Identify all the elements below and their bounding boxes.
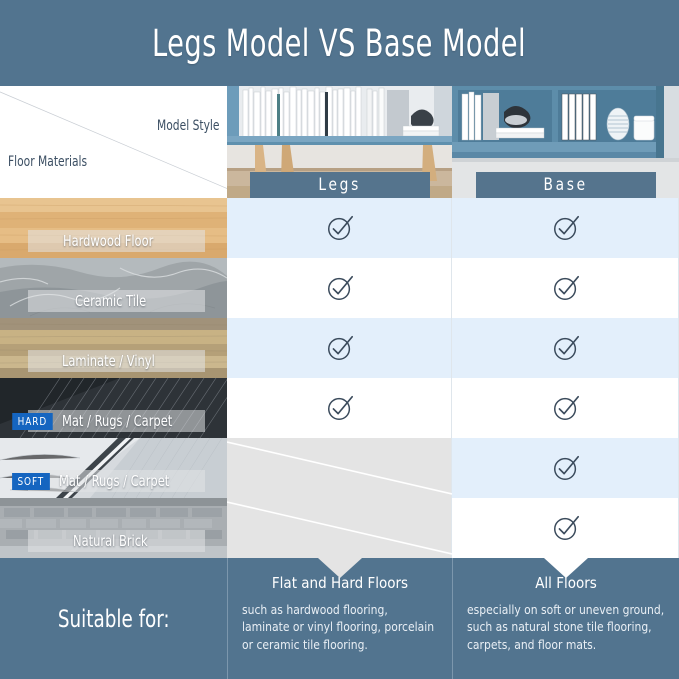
suitable-for-label: Suitable for: bbox=[58, 605, 170, 633]
page-title: Legs Model VS Base Model bbox=[153, 22, 527, 65]
material-label-bar: Laminate / Vinyl bbox=[28, 350, 205, 372]
diagonal-slash-icon bbox=[227, 498, 452, 558]
material-label-bar: SOFT Mat / Rugs / Carpet bbox=[28, 470, 205, 492]
material-photo-natural-brick: Natural Brick bbox=[0, 498, 227, 558]
footer-base-summary: All Floors especially on soft or uneven … bbox=[452, 558, 679, 679]
material-label: Hardwood Floor bbox=[63, 232, 153, 250]
material-label: Laminate / Vinyl bbox=[62, 352, 155, 370]
check-circle-icon bbox=[551, 213, 581, 243]
table-corner-header: Model Style Floor Materials bbox=[0, 86, 227, 198]
check-circle-icon bbox=[325, 273, 355, 303]
base-column-label: Base bbox=[543, 175, 587, 195]
hardness-badge: SOFT bbox=[12, 473, 49, 490]
cell-legs-soft-mat-rugs-carpet bbox=[227, 438, 452, 498]
base-summary-body: especially on soft or uneven ground, suc… bbox=[467, 602, 665, 654]
footer-summary: Suitable for: Flat and Hard Floors such … bbox=[0, 558, 679, 679]
check-circle-icon bbox=[551, 453, 581, 483]
cell-legs-ceramic-tile bbox=[227, 258, 452, 318]
material-photo-hard-mat-rugs-carpet: HARD Mat / Rugs / Carpet bbox=[0, 378, 227, 438]
base-notch-icon bbox=[544, 558, 588, 578]
cell-base-ceramic-tile bbox=[452, 258, 679, 318]
check-circle-icon bbox=[325, 333, 355, 363]
check-circle-icon bbox=[551, 273, 581, 303]
material-label: Ceramic Tile bbox=[75, 292, 146, 310]
material-photo-ceramic-tile: Ceramic Tile bbox=[0, 258, 227, 318]
hardness-badge: HARD bbox=[12, 413, 52, 430]
check-circle-icon bbox=[551, 333, 581, 363]
legs-column-label: Legs bbox=[318, 175, 361, 195]
material-label: Mat / Rugs / Carpet bbox=[59, 472, 169, 490]
cell-legs-laminate-vinyl bbox=[227, 318, 452, 378]
cell-base-hardwood-floor bbox=[452, 198, 679, 258]
cell-base-natural-brick bbox=[452, 498, 679, 558]
check-circle-icon bbox=[325, 393, 355, 423]
cell-legs-hard-mat-rugs-carpet bbox=[227, 378, 452, 438]
diagonal-slash-icon bbox=[227, 438, 452, 498]
material-label: Natural Brick bbox=[73, 532, 148, 550]
material-photo-soft-mat-rugs-carpet: SOFT Mat / Rugs / Carpet bbox=[0, 438, 227, 498]
model-style-label: Model Style bbox=[157, 118, 219, 134]
legs-notch-icon bbox=[318, 558, 362, 578]
material-photo-laminate-vinyl: Laminate / Vinyl bbox=[0, 318, 227, 378]
check-circle-icon bbox=[551, 393, 581, 423]
legs-summary-body: such as hardwood flooring, laminate or v… bbox=[242, 602, 438, 654]
check-circle-icon bbox=[325, 213, 355, 243]
cell-legs-natural-brick bbox=[227, 498, 452, 558]
base-header-photo: Base bbox=[452, 86, 679, 198]
base-column-header: Base bbox=[476, 172, 656, 198]
title-bar: Legs Model VS Base Model bbox=[0, 0, 679, 86]
cell-legs-hardwood-floor bbox=[227, 198, 452, 258]
check-circle-icon bbox=[551, 513, 581, 543]
legs-header-photo: Legs bbox=[227, 86, 452, 198]
material-label-bar: HARD Mat / Rugs / Carpet bbox=[28, 410, 205, 432]
legs-column-header: Legs bbox=[250, 172, 430, 198]
floor-materials-label: Floor Materials bbox=[8, 154, 87, 170]
suitable-for-cell: Suitable for: bbox=[0, 558, 227, 679]
footer-legs-summary: Flat and Hard Floors such as hardwood fl… bbox=[227, 558, 452, 679]
material-label-bar: Hardwood Floor bbox=[28, 230, 205, 252]
cell-base-hard-mat-rugs-carpet bbox=[452, 378, 679, 438]
material-label-bar: Ceramic Tile bbox=[28, 290, 205, 312]
cell-base-laminate-vinyl bbox=[452, 318, 679, 378]
material-label: Mat / Rugs / Carpet bbox=[62, 412, 172, 430]
comparison-infographic: Legs Model VS Base Model Model Style Flo… bbox=[0, 0, 679, 679]
cell-base-soft-mat-rugs-carpet bbox=[452, 438, 679, 498]
comparison-table: Model Style Floor Materials bbox=[0, 86, 679, 558]
material-photo-hardwood-floor: Hardwood Floor bbox=[0, 198, 227, 258]
corner-diagonal-divider bbox=[0, 86, 227, 198]
material-label-bar: Natural Brick bbox=[28, 530, 205, 552]
